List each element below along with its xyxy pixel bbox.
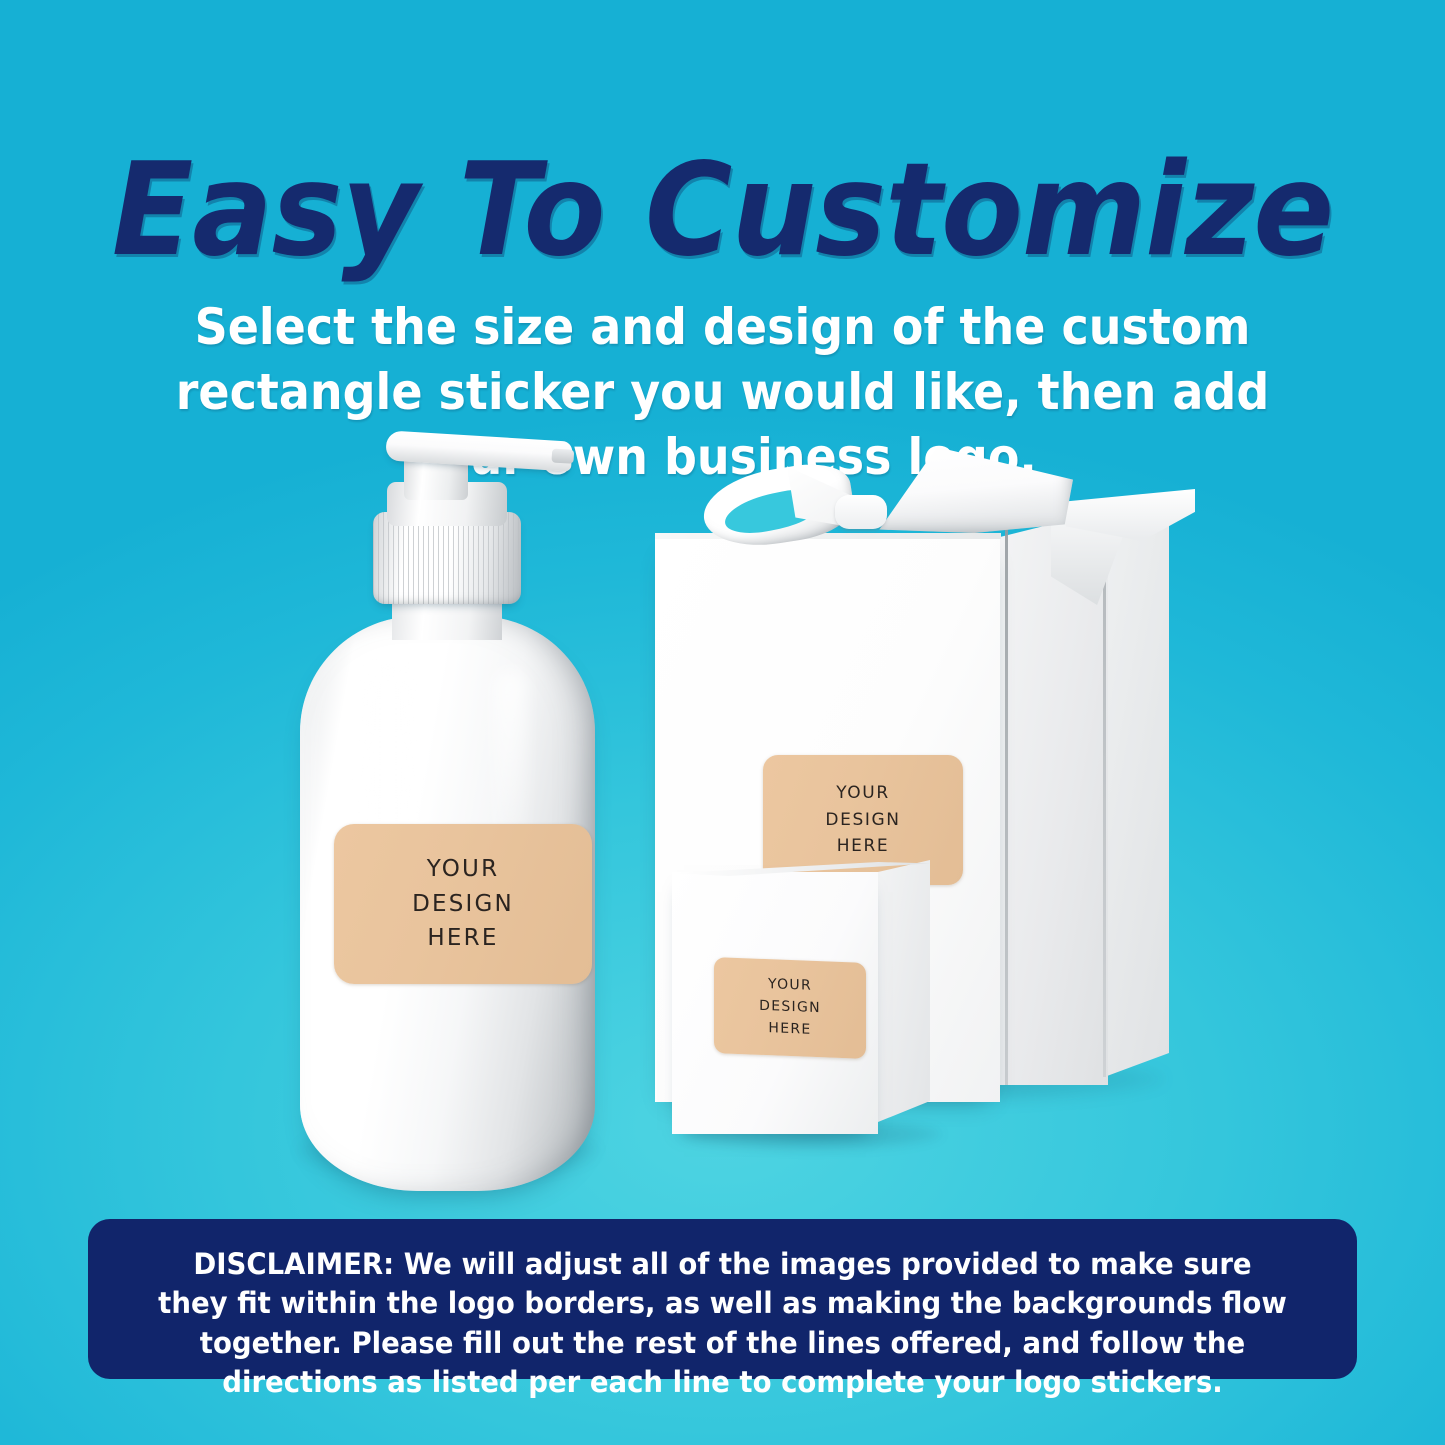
promo-banner: Easy To Customize Select the size and de…: [0, 0, 1445, 1445]
ribbon-knot: [835, 495, 887, 529]
sticker-line-3: HERE: [768, 1018, 811, 1041]
sticker-line-2: DESIGN: [759, 996, 821, 1020]
page-title: Easy To Customize: [51, 144, 1395, 278]
disclaimer-text: DISCLAIMER: We will adjust all of the im…: [158, 1245, 1288, 1403]
sticker-line-3: HERE: [837, 833, 889, 859]
ribbon-loop-right: [867, 447, 1073, 533]
sticker-line-2: DESIGN: [412, 887, 514, 922]
sticker-line-3: HERE: [427, 921, 498, 956]
sticker-line-1: YOUR: [427, 852, 500, 887]
disclaimer-label: DISCLAIMER:: [193, 1247, 394, 1281]
sticker-label-small-box[interactable]: YOUR DESIGN HERE: [714, 957, 866, 1059]
gift-box-back-panel: [1107, 501, 1169, 1076]
sticker-line-1: YOUR: [836, 780, 890, 806]
ribbon-bow: [675, 445, 1185, 565]
small-box: YOUR DESIGN HERE: [672, 860, 962, 1160]
gift-box-seam-2: [1103, 515, 1106, 1077]
product-mockup-scene: YOUR DESIGN HERE YOUR: [0, 380, 1445, 1180]
sticker-line-2: DESIGN: [825, 807, 900, 833]
sticker-line-1: YOUR: [768, 975, 812, 998]
sticker-label-bottle[interactable]: YOUR DESIGN HERE: [334, 824, 592, 984]
gift-box-seam-1: [1005, 529, 1008, 1085]
small-box-side-panel: [878, 860, 930, 1122]
disclaimer-box: DISCLAIMER: We will adjust all of the im…: [88, 1219, 1357, 1379]
